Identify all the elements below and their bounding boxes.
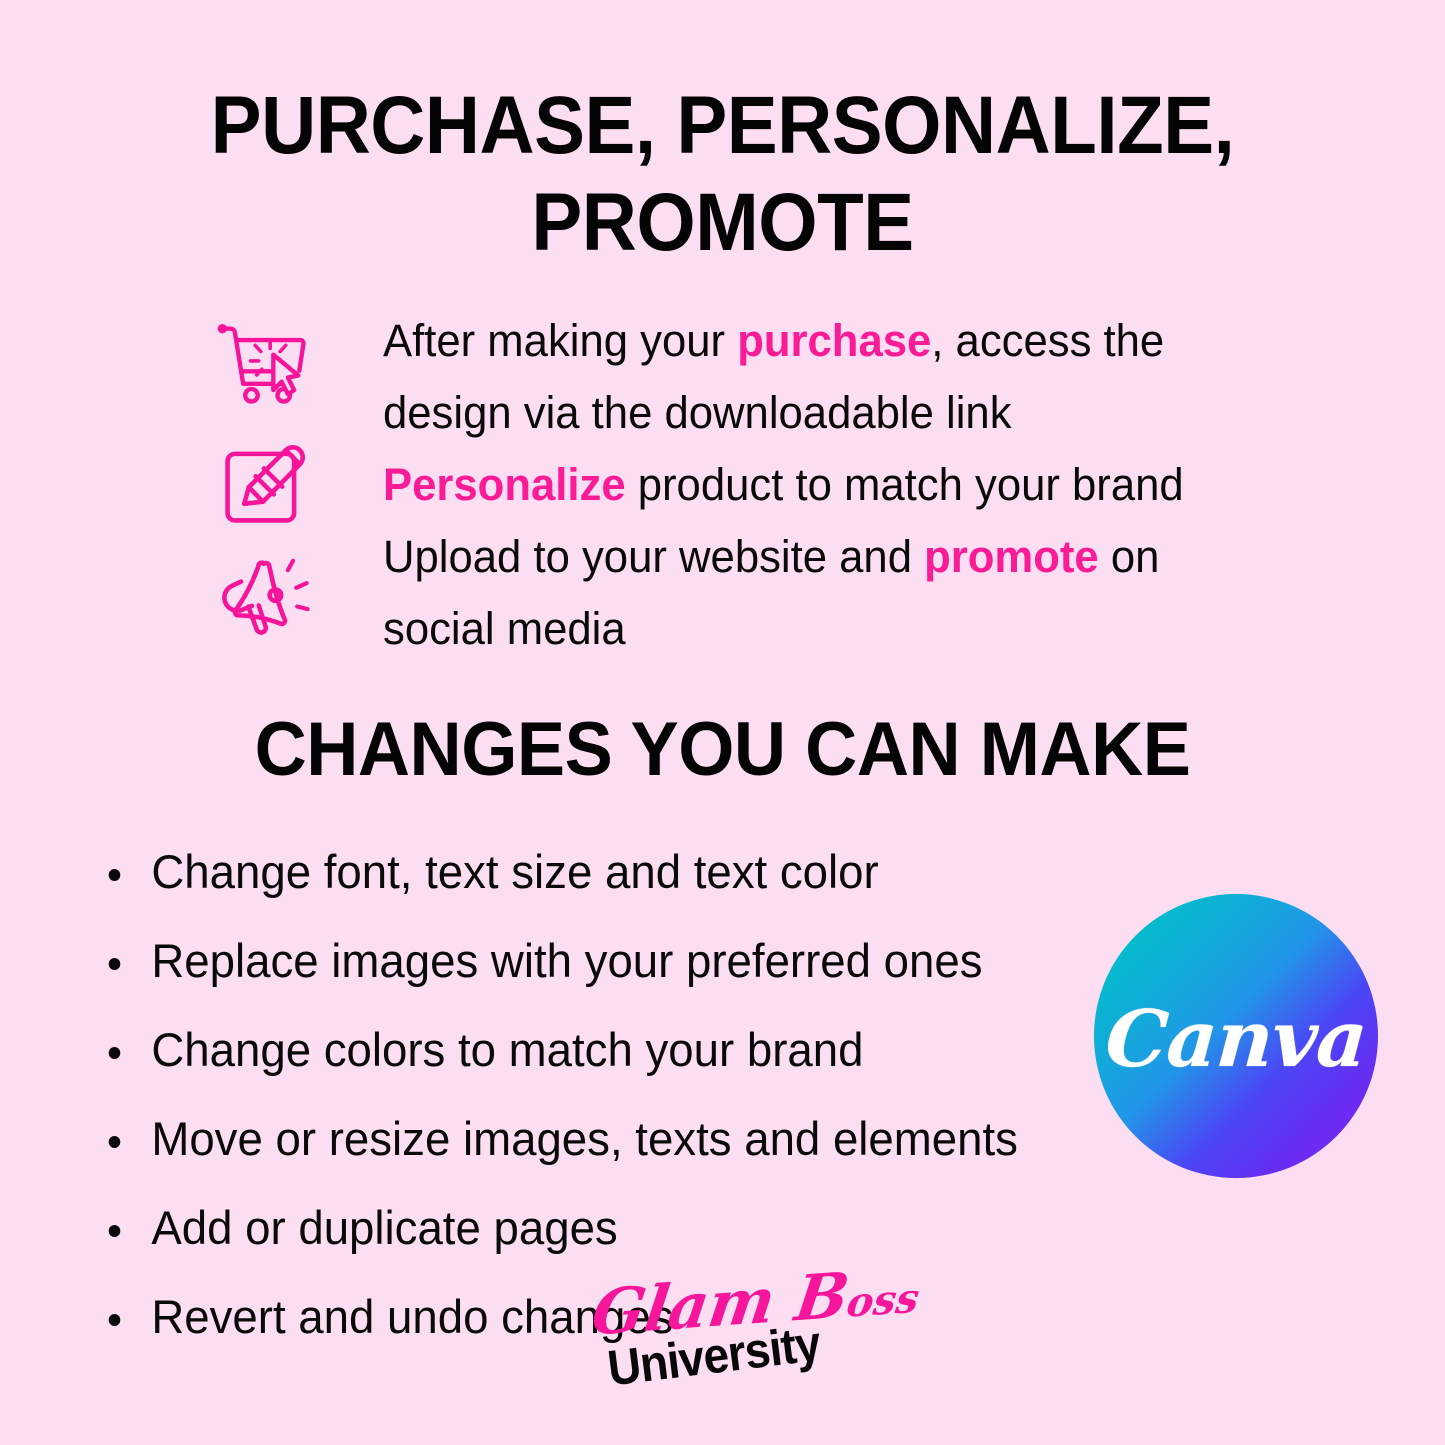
step-keyword-personalize: Personalize — [383, 459, 626, 510]
brand-logo: Glam Boss University — [575, 1282, 875, 1417]
step-keyword-promote: promote — [924, 531, 1099, 582]
section-heading-changes: CHANGES YOU CAN MAKE — [36, 712, 1409, 788]
steps-text-column: After making your purchase, access the d… — [383, 305, 1285, 665]
step-text-2: Personalize product to match your brand — [383, 449, 1285, 521]
list-item: Change font, text size and text color — [98, 838, 1078, 905]
list-item: Change colors to match your brand — [98, 1016, 1078, 1083]
page-title: PURCHASE, PERSONALIZE, PROMOTE — [51, 78, 1395, 272]
shopping-cart-click-icon — [213, 311, 317, 415]
step-text-3-cont: social media — [383, 593, 1285, 665]
step-text-1-cont: design via the downloadable link — [383, 377, 1285, 449]
canva-logo-badge: Canva — [1094, 894, 1378, 1178]
step-text-3: Upload to your website and promote on — [383, 521, 1285, 593]
step-text-1: After making your purchase, access the — [383, 305, 1285, 377]
megaphone-icon — [213, 541, 317, 645]
canva-wordmark: Canva — [1103, 1001, 1369, 1079]
list-item: Replace images with your preferred ones — [98, 927, 1078, 994]
page-title-line-1: PURCHASE, PERSONALIZE, — [211, 80, 1235, 171]
list-item: Move or resize images, texts and element… — [98, 1105, 1078, 1172]
pencil-edit-square-icon — [213, 431, 317, 535]
brand-logo-script-small: oss — [844, 1274, 922, 1327]
list-item: Add or duplicate pages — [98, 1194, 1078, 1261]
poster-canvas: PURCHASE, PERSONALIZE, PROMOTE — [0, 0, 1445, 1445]
page-title-line-2: PROMOTE — [51, 175, 1395, 272]
step-keyword-purchase: purchase — [737, 315, 931, 366]
